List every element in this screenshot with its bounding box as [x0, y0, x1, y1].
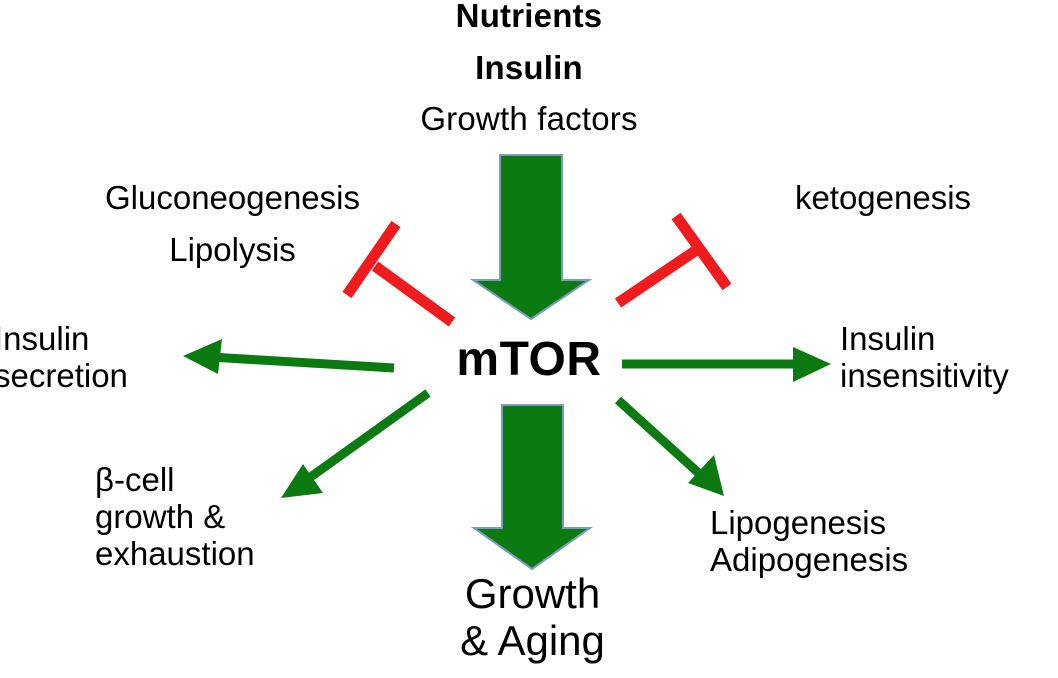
label-bcell-growth-exhaustion: β-cell growth & exhaustion: [95, 462, 325, 573]
label-lipolysis: Lipolysis: [60, 232, 405, 269]
label-growth-factors: Growth factors: [0, 101, 1058, 138]
label-ketogenesis: ketogenesis: [718, 180, 1048, 217]
label-nutrients: Nutrients: [0, 0, 1058, 35]
label-lipogenesis-line: Lipogenesis: [710, 505, 990, 542]
label-gluconeogenesis: Gluconeogenesis: [60, 180, 405, 217]
arrow-mtor-to-growth-aging: [474, 405, 590, 569]
label-adipogenesis-line: Adipogenesis: [710, 542, 990, 579]
label-insulin: Insulin: [0, 50, 1058, 87]
arrow-mtor-inhibits-ketogenesis: [618, 216, 727, 303]
label-mtor: mTOR: [0, 333, 1058, 387]
label-growth-aging: Growth & Aging: [390, 570, 675, 664]
label-growth-aging-line1: Growth: [390, 570, 675, 617]
arrow-inputs-to-mtor: [473, 155, 589, 319]
mtor-diagram: Nutrients Insulin Growth factors Glucone…: [0, 0, 1058, 678]
label-growth-aging-line2: & Aging: [390, 617, 675, 664]
arrow-mtor-to-lipogenesis: [618, 400, 724, 496]
label-bcell-line3: exhaustion: [95, 536, 325, 573]
label-bcell-line2: growth &: [95, 499, 325, 536]
label-bcell-line1: β-cell: [95, 462, 325, 499]
label-lipogenesis-adipogenesis: Lipogenesis Adipogenesis: [710, 505, 990, 579]
